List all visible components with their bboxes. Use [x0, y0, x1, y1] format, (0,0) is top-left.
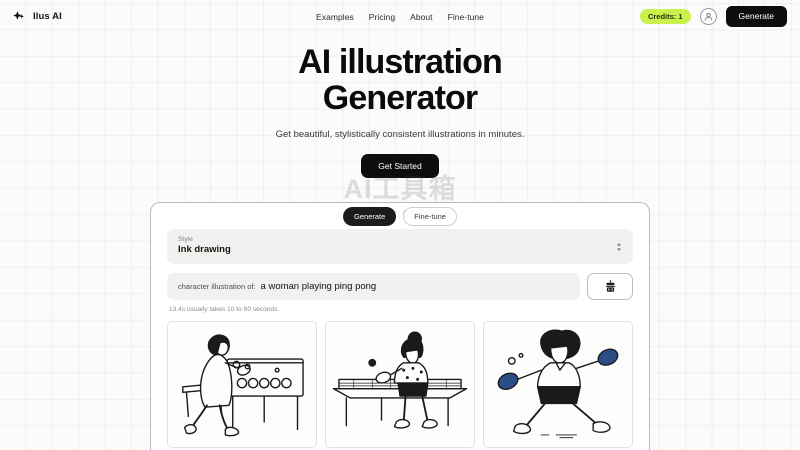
prompt-input[interactable]: character illustration of: a woman playi… — [167, 273, 580, 300]
mode-tabs: Generate Fine-tune — [343, 207, 457, 226]
brand-logo[interactable]: Ilus AI — [13, 10, 62, 24]
nav-link-about[interactable]: About — [410, 12, 432, 22]
nav-link-pricing[interactable]: Pricing — [369, 12, 395, 22]
result-thumbnail-2[interactable] — [325, 321, 475, 448]
watermark-text-cn: AI工具箱 — [250, 176, 550, 203]
avatar[interactable] — [700, 8, 717, 25]
generator-card: Style Ink drawing character illustration… — [150, 202, 650, 450]
style-select[interactable]: Style Ink drawing — [167, 229, 633, 264]
tab-generate[interactable]: Generate — [343, 207, 396, 226]
get-started-button[interactable]: Get Started — [361, 154, 438, 179]
status-text: 13.4s usually takes 10 to 60 seconds. — [167, 306, 633, 313]
brand-name: Ilus AI — [33, 11, 62, 22]
result-thumbnail-1[interactable] — [167, 321, 317, 448]
sparkle-logo-icon — [13, 10, 27, 24]
page-title: AI illustration Generator — [0, 44, 800, 117]
hero-section: AI illustration Generator Get beautiful,… — [0, 44, 800, 178]
style-select-label: Style — [178, 236, 622, 243]
page-root: Ilus AI Examples Pricing About Fine-tune… — [0, 0, 800, 450]
nav-link-fine-tune[interactable]: Fine-tune — [448, 12, 484, 22]
prompt-prefix-label: character illustration of: — [178, 282, 256, 291]
result-thumbnail-3[interactable] — [483, 321, 633, 448]
prompt-submit-button[interactable] — [587, 273, 633, 300]
style-select-value: Ink drawing — [178, 244, 622, 256]
nav-links: Examples Pricing About Fine-tune — [316, 12, 484, 22]
prompt-input-value: a woman playing ping pong — [261, 281, 377, 292]
generate-button[interactable]: Generate — [726, 6, 787, 28]
page-title-line-2: Generator — [323, 79, 477, 117]
navbar: Ilus AI Examples Pricing About Fine-tune… — [0, 0, 800, 33]
chevron-updown-icon — [616, 242, 622, 251]
navbar-right-controls: Credits: 1 Generate — [640, 6, 787, 28]
page-title-line-1: AI illustration — [298, 43, 502, 81]
user-circle-icon — [703, 11, 714, 22]
robot-icon — [604, 280, 617, 293]
page-subtitle: Get beautiful, stylistically consistent … — [0, 129, 800, 140]
credits-badge: Credits: 1 — [640, 9, 691, 24]
nav-link-examples[interactable]: Examples — [316, 12, 354, 22]
tab-fine-tune[interactable]: Fine-tune — [403, 207, 457, 226]
results-grid — [167, 321, 633, 448]
prompt-row: character illustration of: a woman playi… — [167, 273, 633, 300]
